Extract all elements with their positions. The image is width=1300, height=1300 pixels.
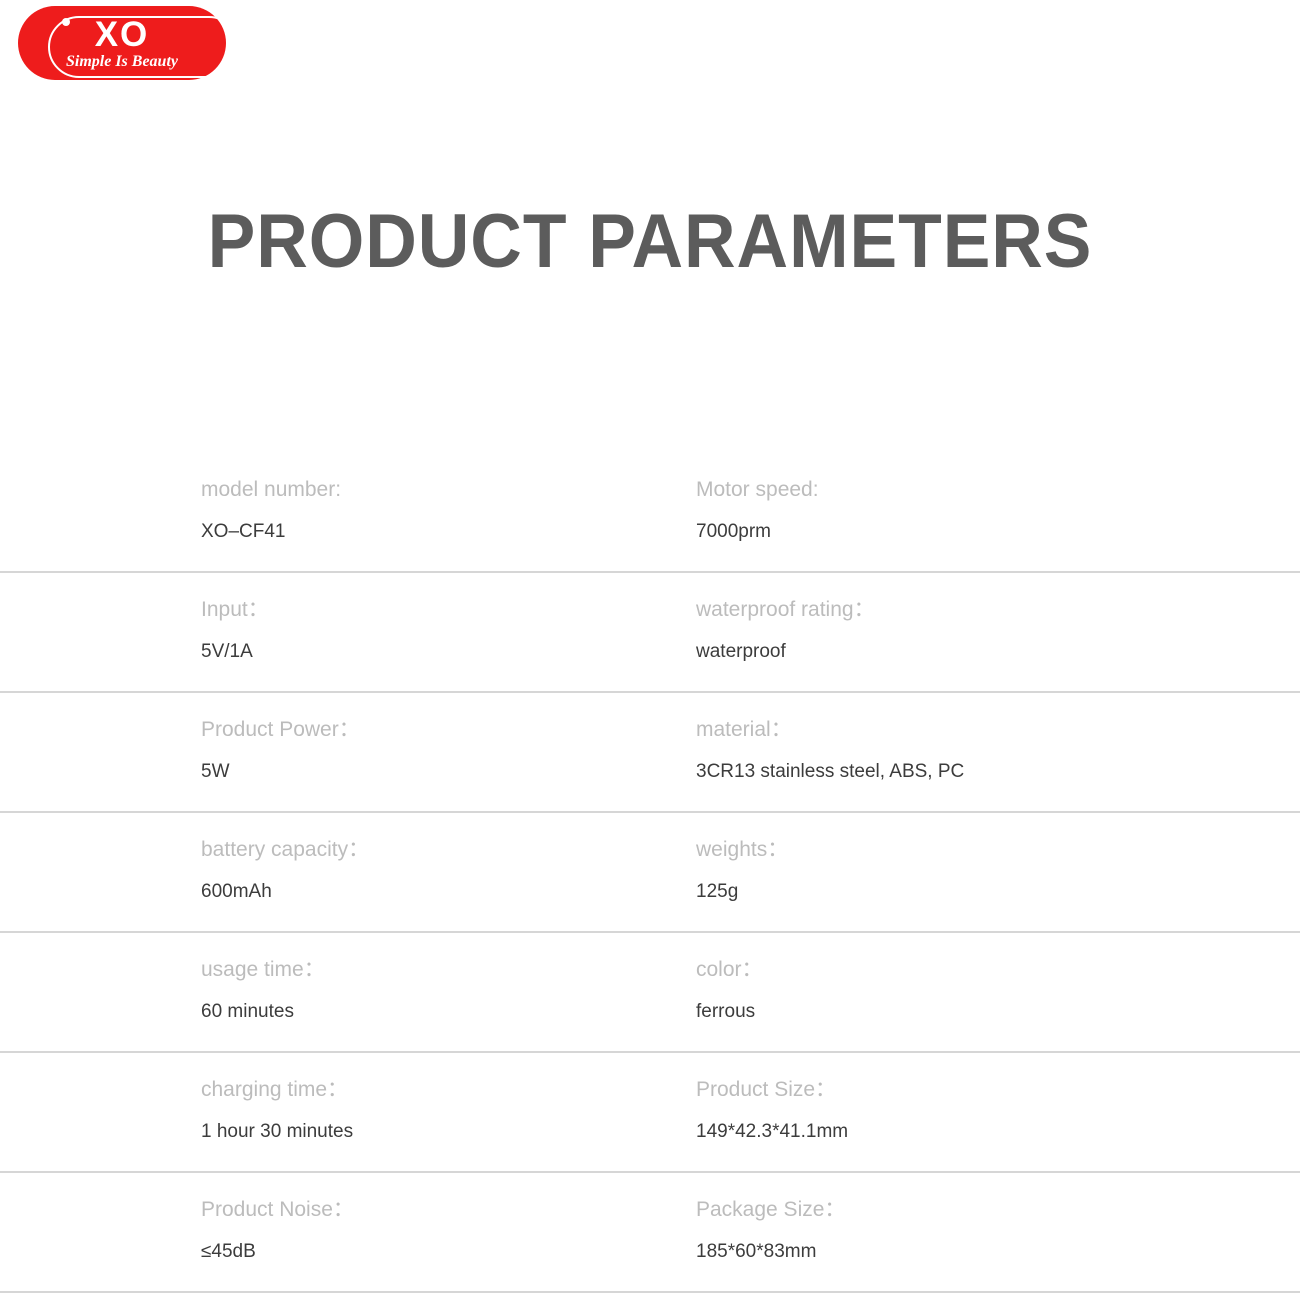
spec-label: color： [696, 959, 1300, 980]
table-row: usage time： 60 minutes color： ferrous [0, 933, 1300, 1053]
spec-value: waterproof [696, 642, 1300, 661]
spec-label: battery capacity： [201, 839, 648, 860]
logo-tagline: Simple Is Beauty [18, 54, 226, 70]
spec-value: XO–CF41 [201, 522, 648, 541]
spec-cell-left: charging time： 1 hour 30 minutes [0, 1053, 648, 1171]
spec-cell-right: color： ferrous [648, 933, 1300, 1051]
logo-badge-shape: XO Simple Is Beauty [18, 6, 226, 80]
spec-value: 7000prm [696, 522, 1300, 541]
spec-label: Product Power： [201, 719, 648, 740]
table-row: Product Noise： ≤45dB Package Size： 185*6… [0, 1173, 1300, 1293]
spec-cell-left: Product Noise： ≤45dB [0, 1173, 648, 1291]
spec-value: 185*60*83mm [696, 1242, 1300, 1261]
spec-cell-right: Product Size： 149*42.3*41.1mm [648, 1053, 1300, 1171]
spec-table: model number: XO–CF41 Motor speed: 7000p… [0, 453, 1300, 1293]
page-title: PRODUCT PARAMETERS [39, 204, 1261, 280]
spec-cell-right: waterproof rating： waterproof [648, 573, 1300, 691]
spec-value: ferrous [696, 1002, 1300, 1021]
spec-value: ≤45dB [201, 1242, 648, 1261]
brand-logo: XO Simple Is Beauty [0, 2, 232, 84]
spec-value: 60 minutes [201, 1002, 648, 1021]
product-parameters-page: XO Simple Is Beauty PRODUCT PARAMETERS m… [0, 0, 1300, 1300]
spec-cell-right: Motor speed: 7000prm [648, 453, 1300, 571]
spec-label: Motor speed: [696, 479, 1300, 500]
spec-value: 125g [696, 882, 1300, 901]
logo-wordmark: XO [18, 17, 226, 52]
spec-label: usage time： [201, 959, 648, 980]
spec-cell-right: material： 3CR13 stainless steel, ABS, PC [648, 693, 1300, 811]
spec-label: Package Size： [696, 1199, 1300, 1220]
spec-label: waterproof rating： [696, 599, 1300, 620]
spec-value: 149*42.3*41.1mm [696, 1122, 1300, 1141]
spec-value: 5W [201, 762, 648, 781]
table-row: battery capacity： 600mAh weights： 125g [0, 813, 1300, 933]
spec-cell-right: weights： 125g [648, 813, 1300, 931]
spec-value: 1 hour 30 minutes [201, 1122, 648, 1141]
table-row: Product Power： 5W material： 3CR13 stainl… [0, 693, 1300, 813]
table-row: model number: XO–CF41 Motor speed: 7000p… [0, 453, 1300, 573]
spec-cell-left: usage time： 60 minutes [0, 933, 648, 1051]
spec-label: model number: [201, 479, 648, 500]
table-row: Input： 5V/1A waterproof rating： waterpro… [0, 573, 1300, 693]
spec-cell-left: battery capacity： 600mAh [0, 813, 648, 931]
spec-value: 600mAh [201, 882, 648, 901]
spec-cell-left: Input： 5V/1A [0, 573, 648, 691]
spec-value: 3CR13 stainless steel, ABS, PC [696, 762, 1300, 781]
spec-label: Input： [201, 599, 648, 620]
spec-cell-left: Product Power： 5W [0, 693, 648, 811]
spec-label: weights： [696, 839, 1300, 860]
spec-label: material： [696, 719, 1300, 740]
spec-label: charging time： [201, 1079, 648, 1100]
spec-cell-left: model number: XO–CF41 [0, 453, 648, 571]
spec-value: 5V/1A [201, 642, 648, 661]
spec-cell-right: Package Size： 185*60*83mm [648, 1173, 1300, 1291]
spec-label: Product Noise： [201, 1199, 648, 1220]
spec-label: Product Size： [696, 1079, 1300, 1100]
table-row: charging time： 1 hour 30 minutes Product… [0, 1053, 1300, 1173]
